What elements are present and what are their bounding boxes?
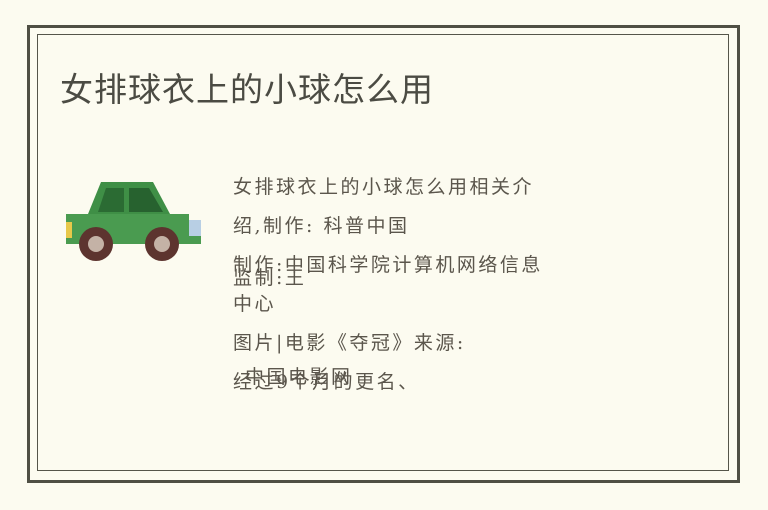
article-overlay-text-1: 监制:王 xyxy=(233,256,653,300)
page-title: 女排球衣上的小球怎么用 xyxy=(60,66,434,114)
green-pickup-truck-icon xyxy=(58,168,214,268)
article-overlay-text-2: 中国电影网 xyxy=(245,355,665,399)
page-root: 女排球衣上的小球怎么用 女排球衣上的小球怎么用相关介 绍,制作: 科普中国 制作… xyxy=(0,0,768,510)
